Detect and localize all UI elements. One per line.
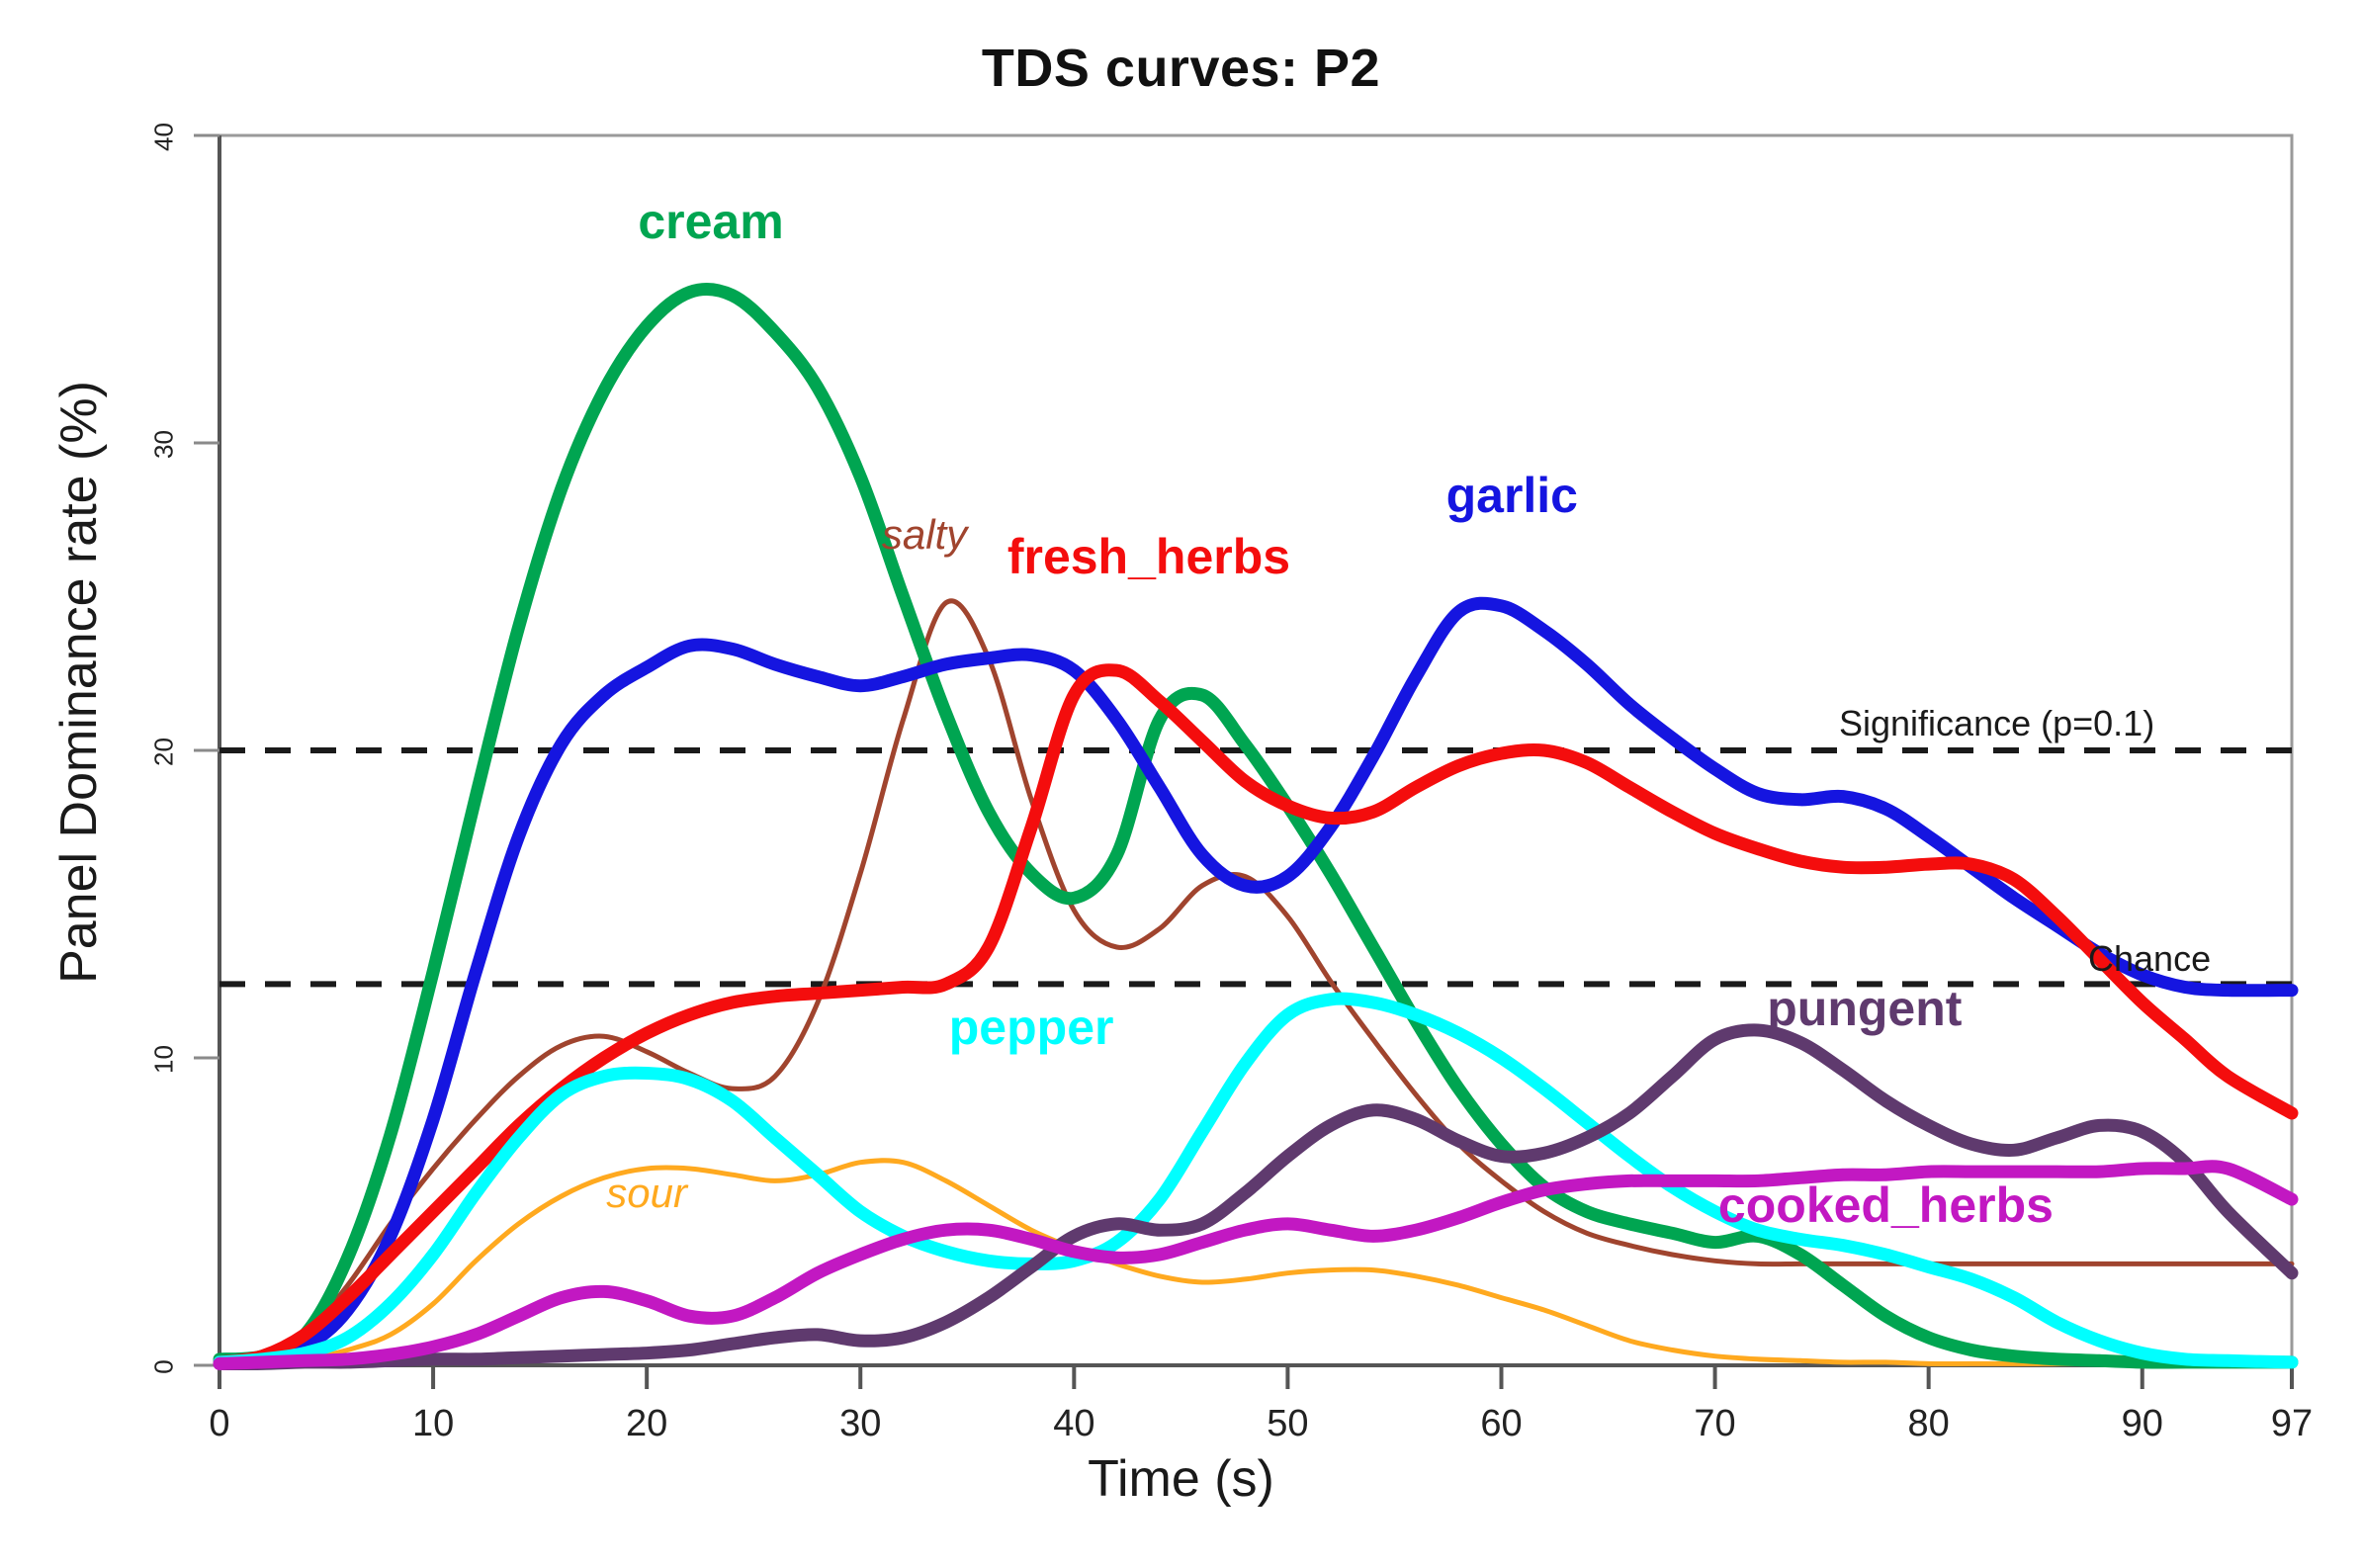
x-tick-label: 40 <box>1029 1403 1118 1445</box>
x-tick-label: 60 <box>1456 1403 1545 1445</box>
chart-page: TDS curves: P2 Panel Dominance rate (%) … <box>0 0 2362 1568</box>
x-tick-label: 70 <box>1671 1403 1760 1445</box>
chance-annotation: Chance <box>2088 938 2211 980</box>
significance-annotation: Significance (p=0.1) <box>1839 703 2154 744</box>
x-tick-label: 80 <box>1884 1403 1973 1445</box>
plot-canvas <box>0 0 2362 1568</box>
series-label-fresh_herbs: fresh_herbs <box>1007 528 1290 585</box>
x-tick-label: 50 <box>1243 1403 1332 1445</box>
series-label-cream: cream <box>638 193 783 250</box>
x-tick-label: 10 <box>389 1403 478 1445</box>
y-tick-label: 10 <box>149 1030 180 1089</box>
y-tick-label: 20 <box>149 723 180 782</box>
y-tick-label: 0 <box>149 1338 180 1397</box>
x-tick-label: 90 <box>2098 1403 2187 1445</box>
series-label-salty: salty <box>882 511 967 559</box>
series-label-pungent: pungent <box>1767 980 1962 1037</box>
x-tick-label: 97 <box>2247 1403 2336 1445</box>
y-tick-label: 30 <box>149 415 180 475</box>
y-tick-label: 40 <box>149 108 180 167</box>
x-tick-label: 0 <box>175 1403 264 1445</box>
series-label-cooked_herbs: cooked_herbs <box>1718 1176 2054 1234</box>
series-label-sour: sour <box>606 1170 687 1217</box>
x-tick-label: 30 <box>816 1403 905 1445</box>
curve-fresh_herbs <box>219 670 2292 1362</box>
series-label-pepper: pepper <box>949 999 1114 1056</box>
series-label-garlic: garlic <box>1446 467 1578 524</box>
x-tick-label: 20 <box>602 1403 691 1445</box>
